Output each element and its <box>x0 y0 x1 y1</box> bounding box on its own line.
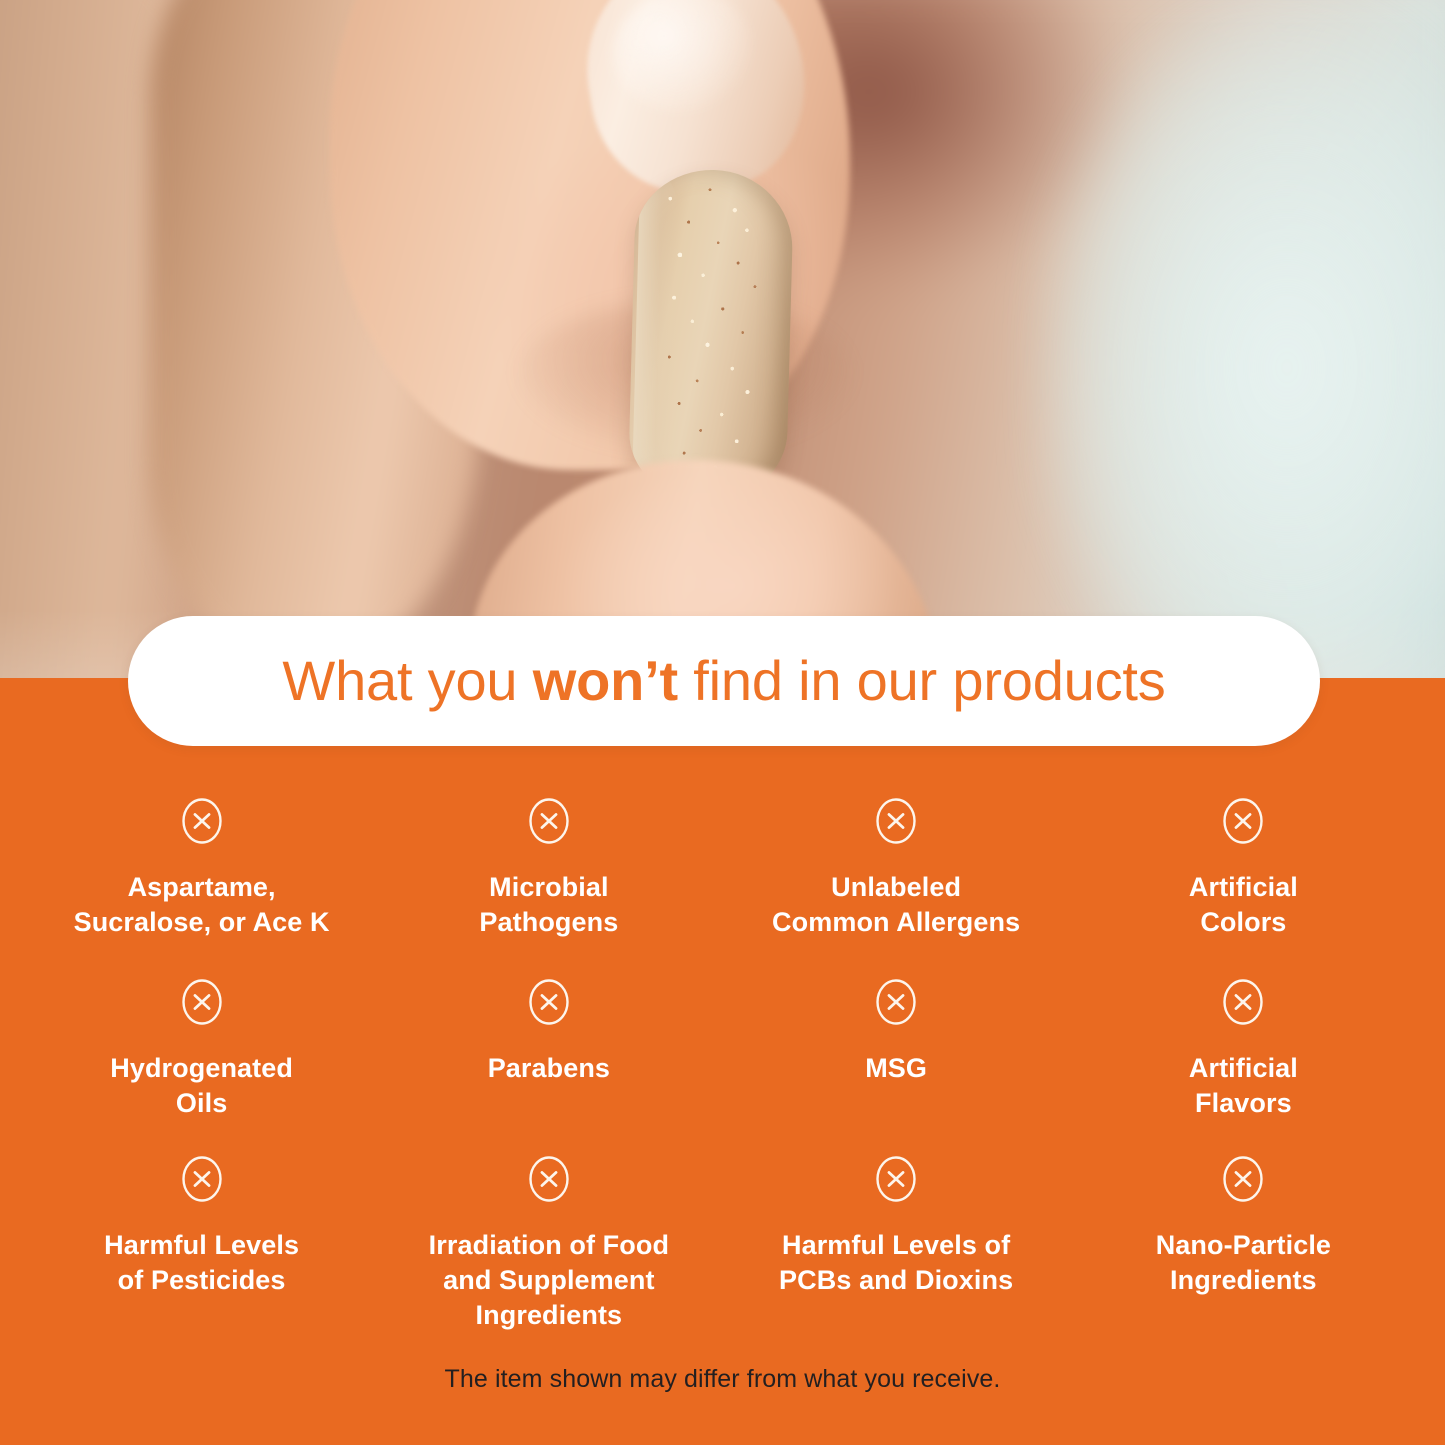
grid-item-label: MSG <box>865 1051 927 1086</box>
grid-item: Hydrogenated Oils <box>28 967 375 1144</box>
circle-x-icon <box>1221 796 1265 846</box>
product-photo <box>0 0 1445 700</box>
grid-item: Microbial Pathogens <box>375 786 722 967</box>
circle-x-icon <box>527 1154 571 1204</box>
grid-item: Irradiation of Food and Supplement Ingre… <box>375 1144 722 1334</box>
circle-x-icon <box>874 1154 918 1204</box>
circle-x-icon <box>874 977 918 1027</box>
circle-x-icon <box>1221 977 1265 1027</box>
product-claims-infographic: What you won’t find in our products Aspa… <box>0 0 1445 1445</box>
page-title: What you won’t find in our products <box>282 653 1165 709</box>
grid-item-label: Harmful Levels of PCBs and Dioxins <box>779 1228 1013 1298</box>
circle-x-icon <box>874 796 918 846</box>
circle-x-icon <box>180 1154 224 1204</box>
photo-background-highlight <box>1040 0 1445 700</box>
heading-banner: What you won’t find in our products <box>128 616 1320 746</box>
circle-x-icon <box>180 796 224 846</box>
grid-item-label: Microbial Pathogens <box>479 870 618 940</box>
page-title-emphasis: won’t <box>533 649 678 712</box>
grid-item-label: Artificial Flavors <box>1189 1051 1298 1121</box>
circle-x-icon <box>1221 1154 1265 1204</box>
grid-item-label: Irradiation of Food and Supplement Ingre… <box>429 1228 669 1333</box>
grid-item: Parabens <box>375 967 722 1144</box>
grid-item: MSG <box>723 967 1070 1144</box>
grid-item: Harmful Levels of PCBs and Dioxins <box>723 1144 1070 1334</box>
tablet-speckle-texture <box>628 168 795 502</box>
grid-item-label: Unlabeled Common Allergens <box>772 870 1020 940</box>
grid-item: Aspartame, Sucralose, or Ace K <box>28 786 375 967</box>
grid-item: Artificial Colors <box>1070 786 1417 967</box>
grid-item: Harmful Levels of Pesticides <box>28 1144 375 1334</box>
grid-item-label: Harmful Levels of Pesticides <box>104 1228 299 1298</box>
circle-x-icon <box>527 796 571 846</box>
grid-item-label: Parabens <box>488 1051 610 1086</box>
grid-item-label: Nano-Particle Ingredients <box>1156 1228 1331 1298</box>
grid-item: Artificial Flavors <box>1070 967 1417 1144</box>
grid-item: Unlabeled Common Allergens <box>723 786 1070 967</box>
page-title-part1: What you <box>282 649 532 712</box>
circle-x-icon <box>527 977 571 1027</box>
disclaimer-text: The item shown may differ from what you … <box>0 1365 1445 1394</box>
grid-item-label: Aspartame, Sucralose, or Ace K <box>74 870 330 940</box>
grid-item-label: Hydrogenated Oils <box>110 1051 293 1121</box>
grid-item-label: Artificial Colors <box>1189 870 1298 940</box>
circle-x-icon <box>180 977 224 1027</box>
excluded-ingredients-grid: Aspartame, Sucralose, or Ace K Microbial… <box>0 786 1445 1334</box>
grid-item: Nano-Particle Ingredients <box>1070 1144 1417 1334</box>
supplement-tablet <box>628 168 795 502</box>
page-title-part2: find in our products <box>678 649 1166 712</box>
